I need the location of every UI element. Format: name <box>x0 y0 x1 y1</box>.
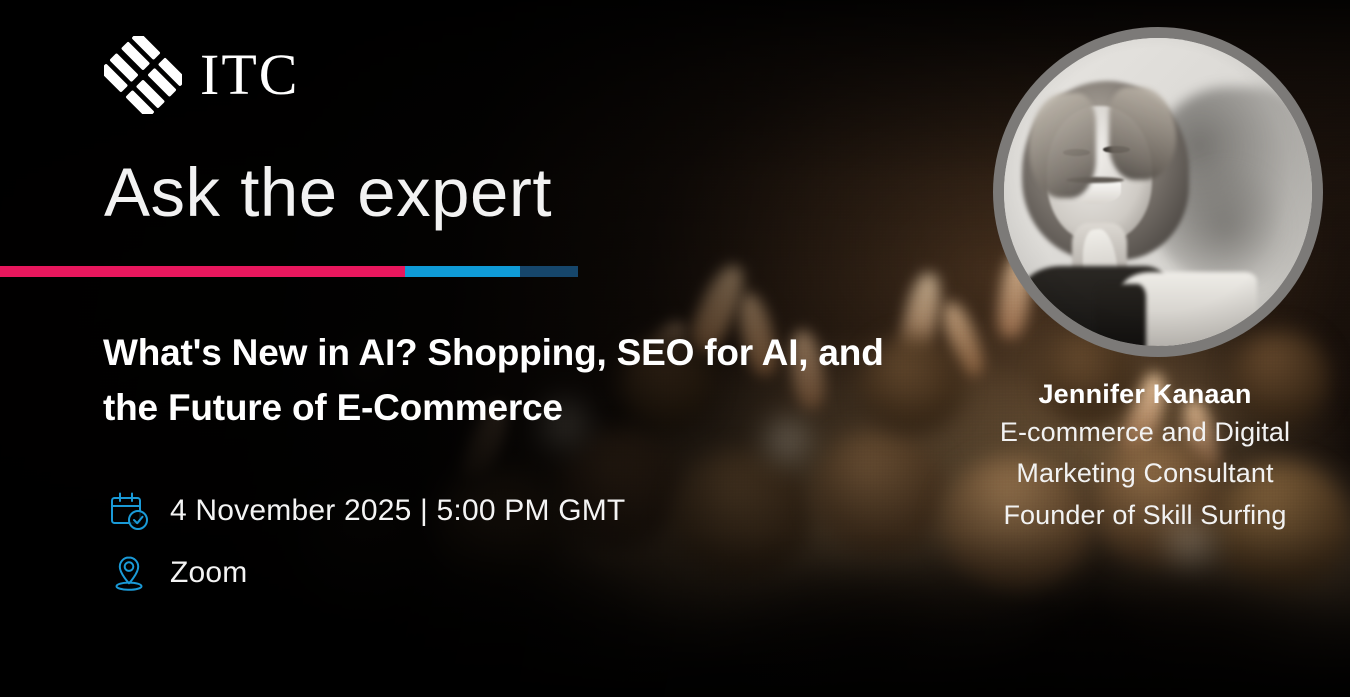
headline-line-1: What's New in AI? Shopping, SEO for AI, … <box>103 326 983 381</box>
event-details: 4 November 2025 | 5:00 PM GMT Zoom <box>106 480 625 604</box>
event-location-text: Zoom <box>170 556 248 590</box>
accent-divider <box>0 266 578 277</box>
speaker-portrait <box>1004 38 1312 346</box>
event-promo-banner: ITC Ask the expert What's New in AI? Sho… <box>0 0 1350 697</box>
event-location-row: Zoom <box>106 542 625 604</box>
eyebrow-title: Ask the expert <box>104 157 552 229</box>
speaker-name: Jennifer Kanaan <box>948 376 1342 412</box>
event-date-row: 4 November 2025 | 5:00 PM GMT <box>106 480 625 542</box>
speaker-role-line-3: Founder of Skill Surfing <box>948 495 1342 536</box>
event-headline: What's New in AI? Shopping, SEO for AI, … <box>103 326 983 436</box>
itc-logo: ITC <box>104 36 299 114</box>
speaker-portrait-frame <box>993 27 1323 357</box>
itc-logo-text: ITC <box>200 46 299 104</box>
speaker-info: Jennifer Kanaan E-commerce and Digital M… <box>948 376 1342 536</box>
location-pin-icon <box>106 550 152 596</box>
speaker-role-line-1: E-commerce and Digital <box>948 412 1342 453</box>
headline-line-2: the Future of E-Commerce <box>103 381 983 436</box>
divider-segment-pink <box>0 266 405 277</box>
event-date-text: 4 November 2025 | 5:00 PM GMT <box>170 494 625 528</box>
itc-woven-diamond-icon <box>104 36 182 114</box>
divider-segment-blue <box>405 266 520 277</box>
speaker-role-line-2: Marketing Consultant <box>948 453 1342 494</box>
divider-segment-navy <box>520 266 578 277</box>
calendar-check-icon <box>106 488 152 534</box>
